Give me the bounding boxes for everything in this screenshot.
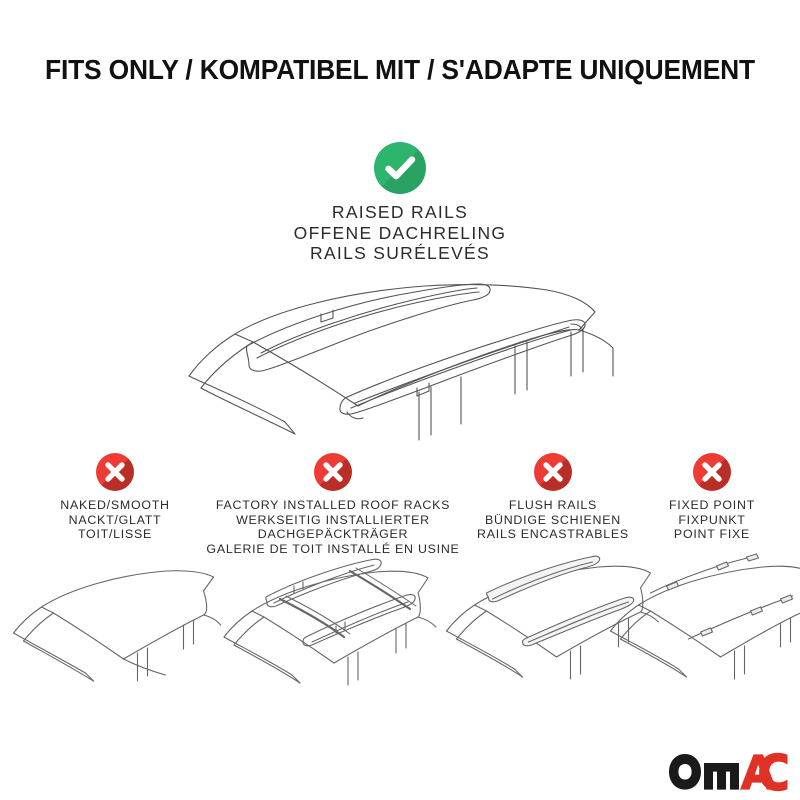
x-mark-glyph bbox=[534, 453, 572, 491]
factory-racks-labels: FACTORY INSTALLED ROOF RACKS WERKSEITIG … bbox=[206, 498, 459, 556]
x-mark-glyph bbox=[314, 453, 352, 491]
naked-smooth-label-de: NACKT/GLATT bbox=[60, 513, 170, 528]
factory-racks-label-en: FACTORY INSTALLED ROOF RACKS bbox=[206, 498, 459, 513]
fixed-point-label-de: FIXPUNKT bbox=[669, 513, 755, 528]
omac-logo bbox=[668, 752, 788, 792]
naked-smooth-label-fr: TOIT/LISSE bbox=[60, 527, 170, 542]
fixed-point-labels: FIXED POINT FIXPUNKT POINT FIXE bbox=[669, 498, 755, 542]
flush-rails-label-en: FLUSH RAILS bbox=[477, 498, 629, 513]
fixed-point-label-fr: POINT FIXE bbox=[669, 527, 755, 542]
raised-rails-labels: RAISED RAILS OFFENE DACHRELING RAILS SUR… bbox=[0, 202, 800, 264]
flush-rails-label-fr: RAILS ENCASTRABLES bbox=[477, 527, 629, 542]
x-circle-icon bbox=[534, 453, 572, 491]
raised-rails-label-en: RAISED RAILS bbox=[0, 202, 800, 223]
x-circle-icon bbox=[96, 453, 134, 491]
infographic-page: FITS ONLY / KOMPATIBEL MIT / S'ADAPTE UN… bbox=[0, 0, 800, 800]
factory-racks-label-de-1: WERKSEITIG INSTALLIERTER bbox=[206, 513, 459, 528]
page-title: FITS ONLY / KOMPATIBEL MIT / S'ADAPTE UN… bbox=[16, 54, 784, 86]
naked-smooth-label-en: NAKED/SMOOTH bbox=[60, 498, 170, 513]
check-circle-icon bbox=[374, 142, 426, 194]
raised-rails-label-de: OFFENE DACHRELING bbox=[0, 223, 800, 244]
factory-racks-label-de-2: DACHGEPÄCKTRÄGER bbox=[206, 527, 459, 542]
x-circle-icon bbox=[314, 453, 352, 491]
logo-letter-o bbox=[669, 754, 701, 790]
naked-smooth-labels: NAKED/SMOOTH NACKT/GLATT TOIT/LISSE bbox=[60, 498, 170, 542]
x-mark-glyph bbox=[96, 453, 134, 491]
flush-rails-label-de: BÜNDIGE SCHIENEN bbox=[477, 513, 629, 528]
fixed-point-label-en: FIXED POINT bbox=[669, 498, 755, 513]
car-roof-with-fixed-points-illustration bbox=[605, 553, 800, 688]
x-circle-icon bbox=[693, 453, 731, 491]
car-roof-with-factory-crossbars-illustration bbox=[218, 553, 448, 693]
car-roof-with-raised-rails-illustration bbox=[175, 272, 625, 452]
flush-rails-labels: FLUSH RAILS BÜNDIGE SCHIENEN RAILS ENCAS… bbox=[477, 498, 629, 542]
car-roof-bare-illustration bbox=[8, 561, 223, 691]
x-mark-glyph bbox=[693, 453, 731, 491]
check-mark-glyph bbox=[374, 142, 426, 194]
raised-rails-label-fr: RAILS SURÉLEVÉS bbox=[0, 243, 800, 264]
logo-letter-m bbox=[704, 763, 739, 790]
